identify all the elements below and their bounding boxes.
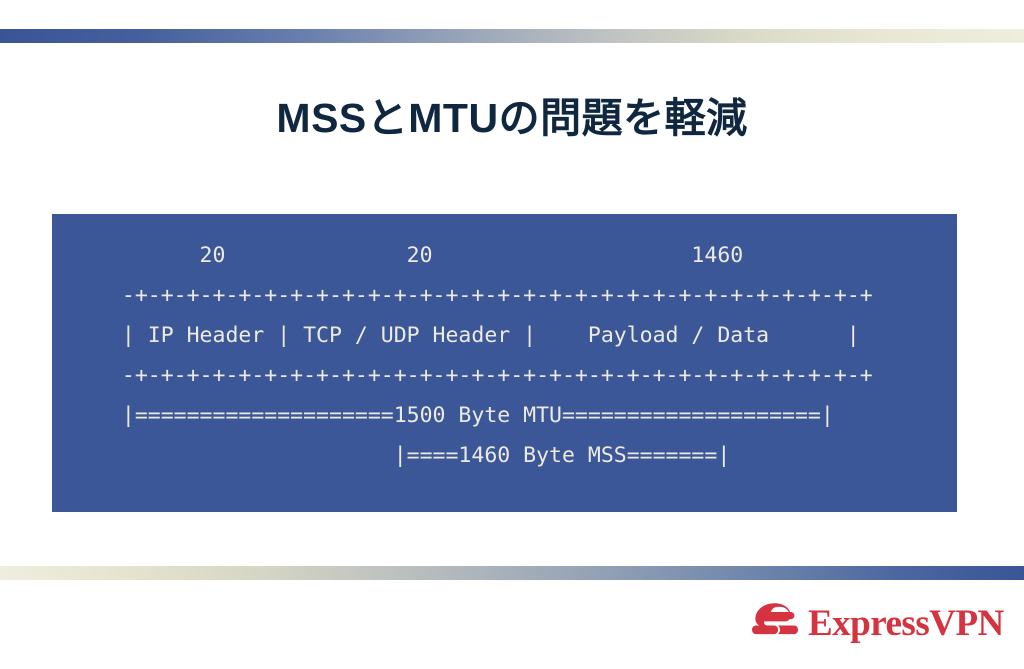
code-line-separator-top: -+-+-+-+-+-+-+-+-+-+-+-+-+-+-+-+-+-+-+-+…	[96, 276, 957, 316]
page-title: MSSとMTUの問題を軽減	[0, 84, 1024, 144]
expressvpn-wordmark: ExpressVPN	[808, 605, 1004, 642]
code-line-fields: | IP Header | TCP / UDP Header | Payload…	[96, 316, 957, 356]
code-line-mss-span: |====1460 Byte MSS=======|	[96, 436, 957, 476]
top-gradient-rule	[0, 29, 1024, 43]
packet-structure-ascii-diagram: 20 20 1460 -+-+-+-+-+-+-+-+-+-+-+-+-+-+-…	[52, 236, 957, 476]
code-line-mtu-span: |====================1500 Byte MTU======…	[96, 396, 957, 436]
code-line-separator-bottom: -+-+-+-+-+-+-+-+-+-+-+-+-+-+-+-+-+-+-+-+…	[96, 356, 957, 396]
bottom-gradient-rule	[0, 566, 1024, 580]
diagram-code-panel: 20 20 1460 -+-+-+-+-+-+-+-+-+-+-+-+-+-+-…	[52, 214, 957, 512]
code-line-sizes: 20 20 1460	[96, 236, 957, 276]
expressvpn-e-mark-icon	[752, 602, 798, 644]
expressvpn-logo: ExpressVPN	[752, 598, 964, 648]
slide-canvas: MSSとMTUの問題を軽減 20 20 1460 -+-+-+-+-+-+-+-…	[0, 0, 1024, 669]
